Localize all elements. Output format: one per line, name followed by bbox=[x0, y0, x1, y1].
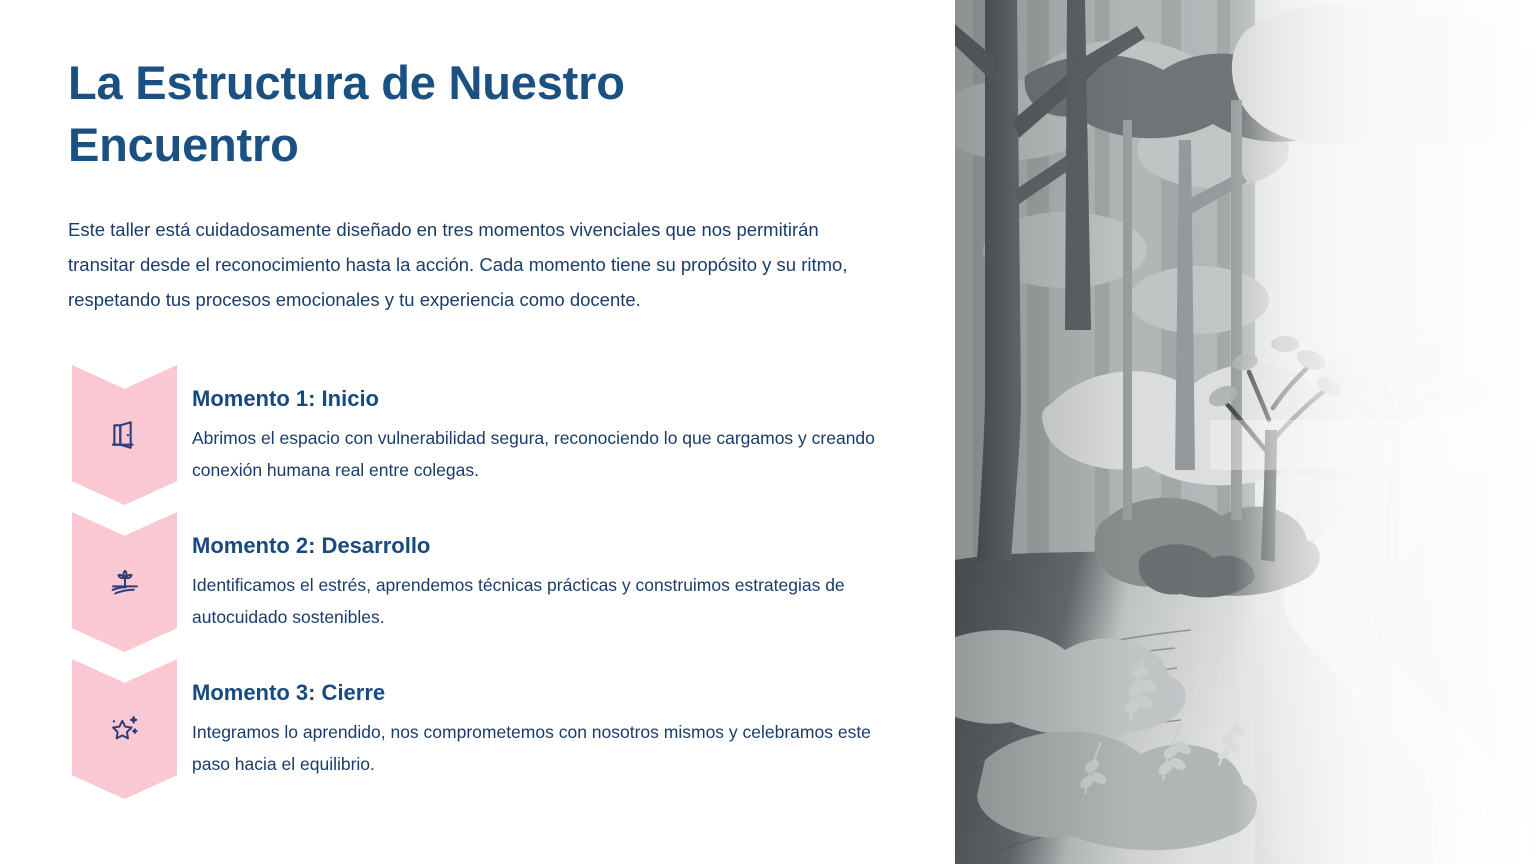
moment-item: Momento 2: Desarrollo Identificamos el e… bbox=[68, 512, 898, 652]
moment-description: Identificamos el estrés, aprendemos técn… bbox=[192, 569, 882, 633]
moment-title: Momento 2: Desarrollo bbox=[192, 531, 892, 561]
moment-text-1: Momento 1: Inicio Abrimos el espacio con… bbox=[192, 384, 892, 486]
moment-banner-1 bbox=[72, 365, 177, 505]
horizon-glow bbox=[1210, 420, 1536, 470]
moment-title: Momento 3: Cierre bbox=[192, 678, 892, 708]
moment-title: Momento 1: Inicio bbox=[192, 384, 892, 414]
content-column: La Estructura de Nuestro Encuentro Este … bbox=[68, 0, 898, 864]
illustration-canvas bbox=[955, 0, 1536, 864]
moment-banner-2 bbox=[72, 512, 177, 652]
moment-item: Momento 3: Cierre Integramos lo aprendid… bbox=[68, 659, 898, 799]
moment-description: Abrimos el espacio con vulnerabilidad se… bbox=[192, 422, 882, 486]
moment-text-2: Momento 2: Desarrollo Identificamos el e… bbox=[192, 531, 892, 633]
moment-item: Momento 1: Inicio Abrimos el espacio con… bbox=[68, 365, 898, 505]
star-sparkle-icon bbox=[108, 712, 142, 746]
moment-description: Integramos lo aprendido, nos comprometem… bbox=[192, 716, 882, 780]
moments-list: Momento 1: Inicio Abrimos el espacio con… bbox=[68, 365, 898, 806]
sprout-icon bbox=[108, 565, 142, 599]
moment-banner-3 bbox=[72, 659, 177, 799]
forest-to-meadow-path-illustration bbox=[955, 0, 1536, 864]
open-door-icon bbox=[108, 418, 142, 452]
moment-text-3: Momento 3: Cierre Integramos lo aprendid… bbox=[192, 678, 892, 780]
slide-root: La Estructura de Nuestro Encuentro Este … bbox=[0, 0, 1536, 864]
intro-paragraph: Este taller está cuidadosamente diseñado… bbox=[68, 212, 880, 317]
page-title: La Estructura de Nuestro Encuentro bbox=[68, 52, 768, 176]
